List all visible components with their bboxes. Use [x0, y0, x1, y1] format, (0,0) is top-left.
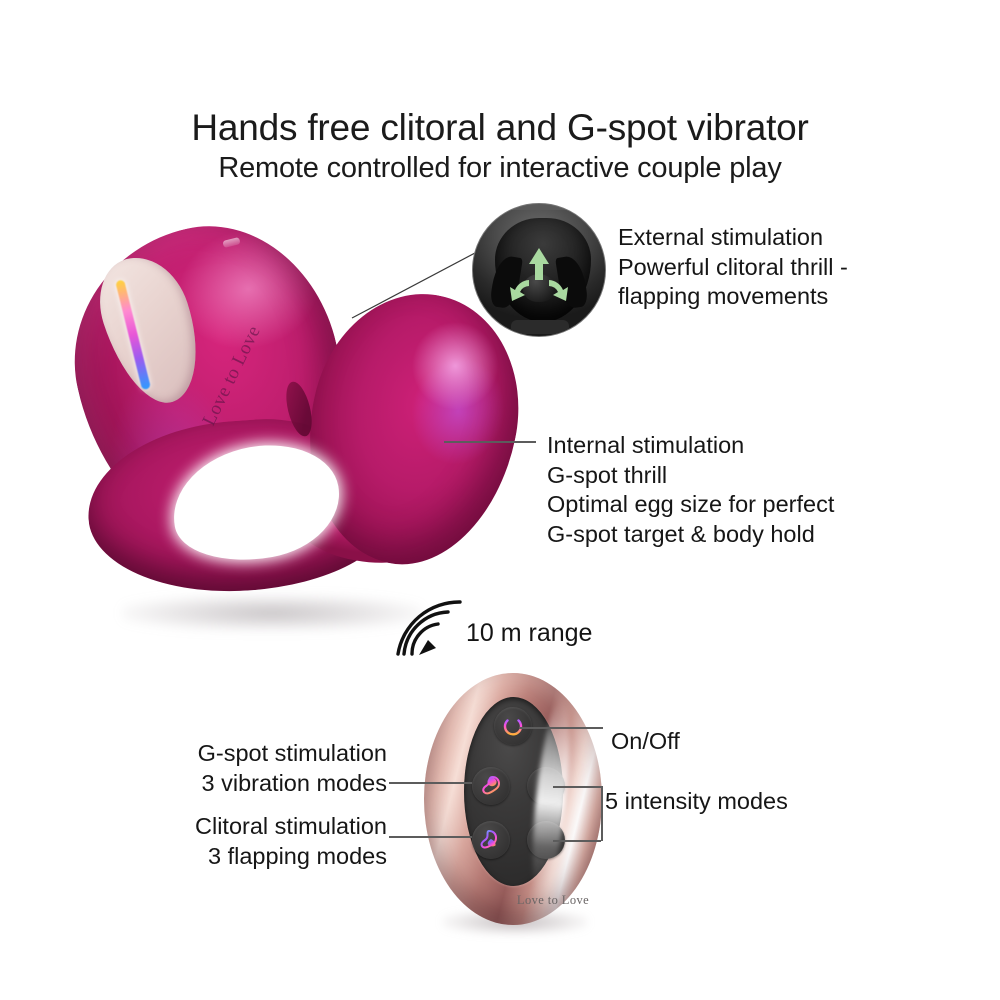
remote-control: Love to Love: [424, 673, 602, 935]
remote-brand-text: Love to Love: [464, 893, 642, 908]
leader-line-onoff: [519, 727, 603, 729]
label-clitoral-stimulation: Clitoral stimulation 3 flapping modes: [195, 812, 387, 871]
arrow-curve-left-icon: [510, 280, 529, 301]
page-subtitle: Remote controlled for interactive couple…: [0, 152, 1000, 185]
label-gspot-stimulation: G-spot stimulation 3 vibration modes: [198, 739, 387, 798]
leader-line-intensity-up: [553, 786, 601, 788]
gspot-mode-button[interactable]: [472, 767, 510, 805]
leader-join-intensity: [601, 786, 603, 841]
leader-line-intensity-down: [553, 840, 601, 842]
external-stimulation-magnifier: [472, 203, 606, 337]
power-icon: [502, 715, 524, 737]
label-intensity-modes: 5 intensity modes: [605, 787, 788, 816]
product-infographic: Hands free clitoral and G-spot vibrator …: [0, 0, 1000, 1000]
range-label: 10 m range: [466, 619, 592, 648]
vibration-mode-icon: [479, 774, 503, 798]
leader-line-clitoral: [389, 836, 472, 838]
flapping-motion-arrows: [473, 204, 605, 336]
arrow-curve-right-icon: [549, 280, 568, 301]
label-on-off: On/Off: [611, 727, 680, 756]
page-title: Hands free clitoral and G-spot vibrator: [0, 107, 1000, 149]
leader-line-internal: [444, 441, 536, 443]
arrow-up-icon: [529, 248, 549, 280]
callout-external-stimulation: External stimulation Powerful clitoral t…: [618, 223, 848, 312]
product-shadow: [122, 595, 422, 631]
clitoral-mode-button[interactable]: [472, 821, 510, 859]
power-button[interactable]: [494, 707, 532, 745]
leader-line-gspot: [389, 782, 472, 784]
callout-internal-stimulation: Internal stimulation G-spot thrill Optim…: [547, 431, 834, 549]
flapping-mode-icon: [479, 828, 503, 852]
wifi-range-icon: [392, 598, 470, 660]
